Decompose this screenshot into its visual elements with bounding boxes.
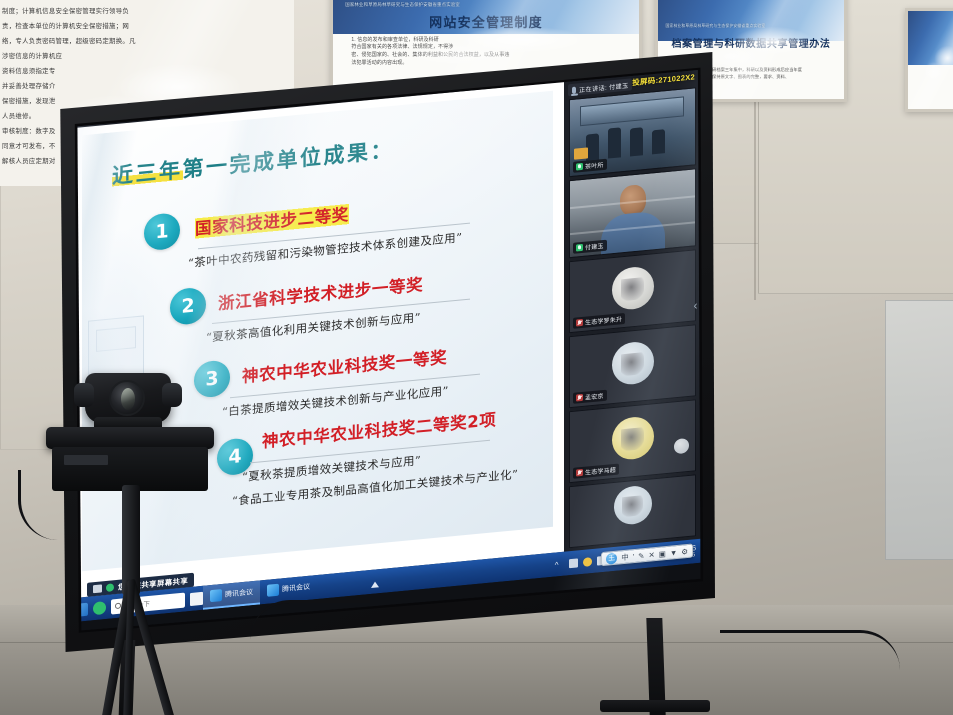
ime-settings-icon[interactable]: ⚙ <box>681 546 688 556</box>
avatar-image <box>621 352 645 376</box>
usb-icon[interactable] <box>569 558 578 568</box>
ime-close-icon[interactable]: ✕ <box>648 550 654 560</box>
poster-partial-right <box>905 8 953 112</box>
mic-muted-icon <box>576 319 583 327</box>
avatar <box>614 484 652 526</box>
placard-line: 络，专人负责密码管理，超级密码定期换。凡 <box>2 34 288 49</box>
camera-pan-hinge-left <box>74 383 94 407</box>
participant-rail: 正在讲话: 付建玉 茶叶所 <box>564 69 701 552</box>
chevron-left-icon[interactable]: ‹ <box>691 294 700 317</box>
placard-line: 制度；计算机信息安全保密管理实行领导负 <box>2 4 288 19</box>
glass-reflection-box <box>96 326 136 352</box>
poster-title: 档案管理与科研数据共享管理办法 <box>664 35 839 50</box>
tencent-meeting-icon <box>267 584 279 597</box>
slide-title-rest: 第一完成单位成果： <box>183 137 395 182</box>
mic-muted-icon <box>576 394 583 402</box>
award-number-badge: 1 <box>144 212 180 251</box>
participant-namebar: 生态学罗朱升 <box>573 313 625 329</box>
poster-org-line: 国家林业和草原局林草研究与生态保护安徽省重点实验室 <box>665 24 836 29</box>
ime-handwriting-icon[interactable]: ✎ <box>638 551 644 561</box>
participant-tile[interactable]: 茶叶所 <box>569 87 696 177</box>
taskbar-spacer <box>317 572 467 587</box>
placard-line: 责，检查本单位的计算机安全保密措施；网 <box>2 19 288 34</box>
participant-tile[interactable]: 付建玉 <box>569 168 696 258</box>
award-project: “夏秋茶高值化利用关键技术创新与应用” <box>206 309 421 345</box>
ime-logo-icon[interactable]: 王 <box>606 552 617 564</box>
tripod-leg <box>126 579 190 715</box>
cable <box>250 600 370 660</box>
poster-header-band <box>908 11 953 65</box>
avatar-image <box>621 427 645 451</box>
avatar <box>612 340 654 386</box>
award-title: 国家科技进步二等奖 <box>195 201 349 240</box>
camera-mount-plate <box>46 427 214 449</box>
tv-stand-foot-right <box>600 700 710 712</box>
sun-icon[interactable] <box>583 557 592 567</box>
room-person <box>630 127 643 156</box>
chevron-up-icon[interactable]: ^ <box>555 559 564 569</box>
slide-title-prefix: 近三年 <box>112 157 183 189</box>
participant-tile[interactable] <box>569 474 696 548</box>
control-box-panel <box>64 455 108 465</box>
camera-lens <box>109 380 145 416</box>
mic-on-icon <box>576 163 583 171</box>
conference-room-scene: 制度；计算机信息安全保密管理实行领导负 责，检查本单位的计算机安全保密措施；网 … <box>0 0 953 715</box>
window-right <box>885 300 953 560</box>
participant-tile[interactable]: 生态学罗朱升 <box>569 249 696 333</box>
video-off-indicator <box>674 438 689 454</box>
poster-org-line: 国家林业和草原局林草研究与生态保护安徽省重点实验室 <box>345 2 627 8</box>
room-nameplate <box>574 147 588 159</box>
participant-name: 孟宏京 <box>585 391 604 402</box>
ime-punctuation-icon[interactable]: ' <box>633 552 634 561</box>
ime-mode-icon[interactable]: 中 <box>621 551 629 563</box>
avatar <box>612 415 654 461</box>
ptz-camera-body <box>85 373 171 423</box>
ime-keyboard-icon[interactable]: ▣ <box>659 549 666 559</box>
room-person <box>652 129 665 154</box>
award-number-badge: 2 <box>170 287 206 326</box>
poster-title: 网站安全管理制度 <box>342 12 630 31</box>
award-title: 浙江省科学技术进步一等奖 <box>218 271 423 314</box>
taskbar-item-label: 腾讯会议 <box>282 582 310 595</box>
mic-muted-icon <box>576 469 583 477</box>
person-body <box>601 210 665 256</box>
avatar <box>612 265 654 311</box>
participant-namebar: 孟宏京 <box>573 390 607 404</box>
award-title: 神农中华农业科技奖二等奖2项 <box>262 406 496 452</box>
mic-on-icon <box>576 244 583 252</box>
slide-title: 近三年第一完成单位成果： <box>112 134 394 191</box>
microphone-icon <box>572 86 576 93</box>
ptz-camera-rig <box>30 355 260 715</box>
avatar-image <box>622 495 643 517</box>
ime-more-icon[interactable]: ▼ <box>670 548 677 558</box>
participant-namebar: 茶叶所 <box>573 159 607 173</box>
room-projector-screen <box>580 96 684 126</box>
participant-namebar: 生态学马超 <box>573 464 619 479</box>
active-speaker-label: 正在讲话: 付建玉 <box>579 80 628 94</box>
cable <box>720 630 900 670</box>
camera-pan-hinge-right <box>162 383 182 407</box>
participant-name: 生态学罗朱升 <box>585 314 622 327</box>
participant-tile[interactable]: 孟宏京 <box>569 324 696 408</box>
participant-tile[interactable]: 生态学马超 <box>569 399 696 483</box>
participant-name: 付建玉 <box>585 241 604 252</box>
tripod-column <box>122 485 140 595</box>
participant-name: 生态学马超 <box>585 465 616 477</box>
participant-name: 茶叶所 <box>585 160 604 171</box>
avatar-image <box>621 277 645 301</box>
room-person <box>608 127 621 158</box>
cursor-arrow-icon <box>371 581 379 588</box>
